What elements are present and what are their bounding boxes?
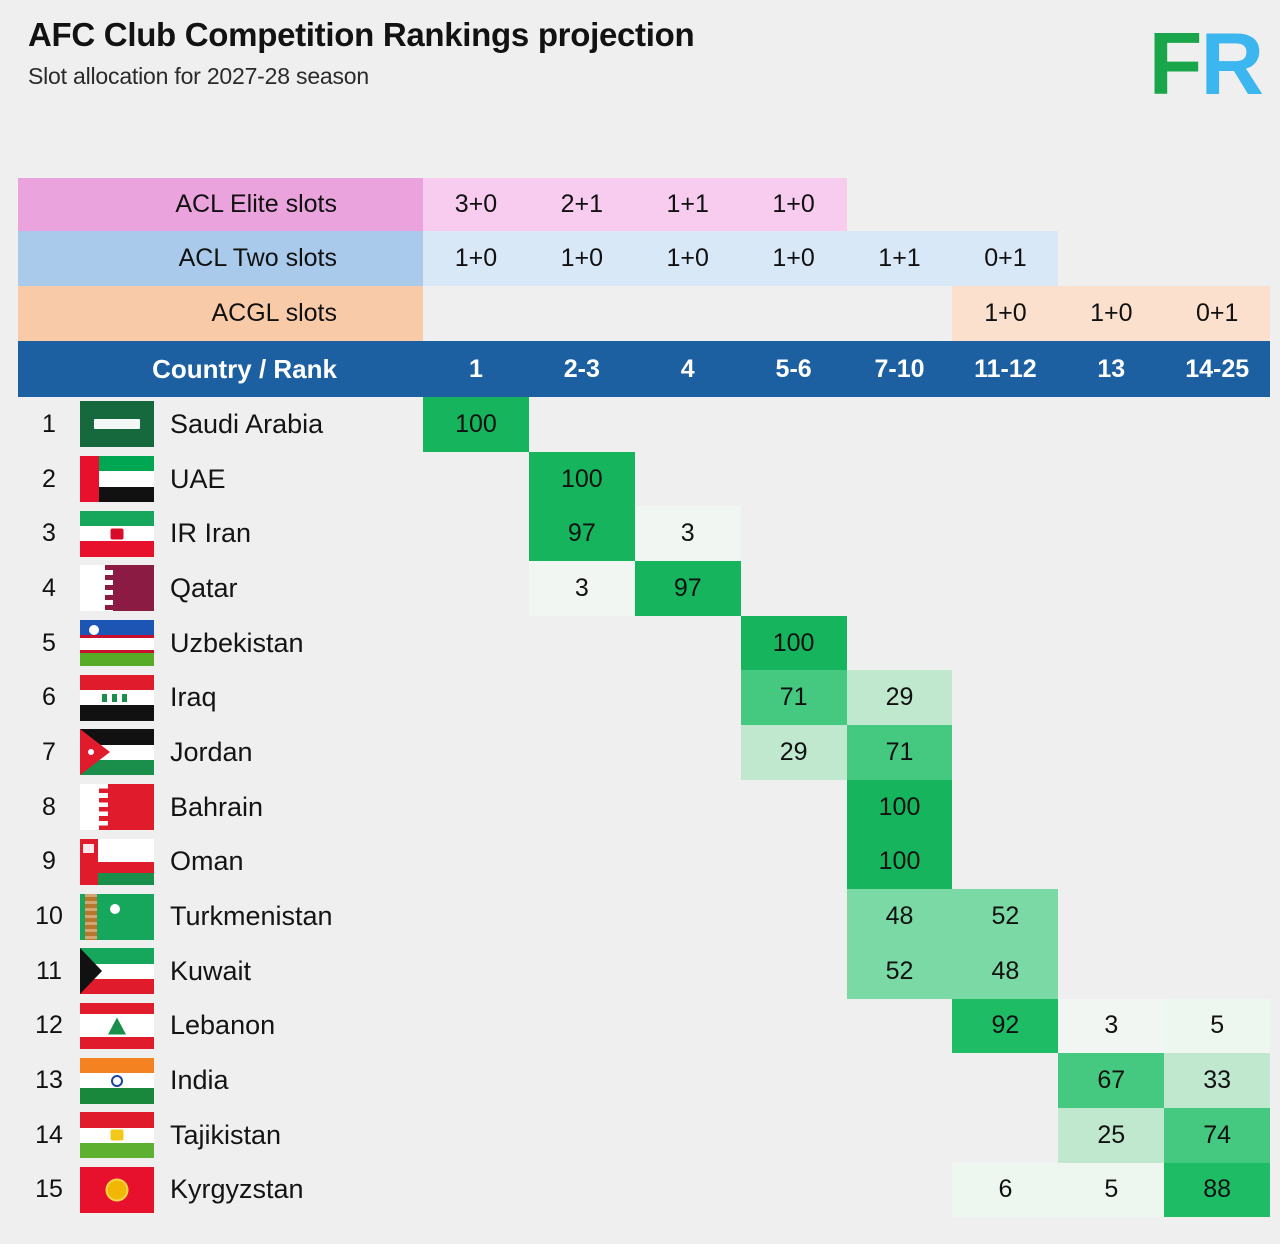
row-label: 12 Lebanon [18, 999, 423, 1054]
row-cells: 100 [423, 397, 1270, 452]
heatmap-cell: 29 [741, 725, 847, 780]
heatmap-cell: 88 [1164, 1163, 1270, 1218]
heatmap-cell [741, 999, 847, 1054]
row-cells: 100 [423, 616, 1270, 671]
heatmap-cell [1164, 397, 1270, 452]
heatmap-cell [423, 780, 529, 835]
country-name: Tajikistan [154, 1120, 281, 1151]
heatmap-cell [741, 1108, 847, 1163]
slot-row-cells: 1+01+00+1 [423, 286, 1270, 341]
heatmap-cell [635, 889, 741, 944]
row-rank: 1 [18, 410, 80, 439]
flag-icon-ir [80, 511, 154, 557]
row-label: 3 IR Iran [18, 506, 423, 561]
row-cells: 9235 [423, 999, 1270, 1054]
heatmap-cell [952, 780, 1058, 835]
slot-cell: 1+1 [635, 178, 741, 231]
column-header-7-10: 7-10 [847, 341, 953, 397]
fr-logo: FR [1149, 22, 1262, 106]
slot-row-acl-two-slots: ACL Two slots1+01+01+01+01+10+1 [18, 231, 1270, 286]
heatmap-cell [423, 835, 529, 890]
heatmap-cell [952, 616, 1058, 671]
heatmap-cell [952, 725, 1058, 780]
heatmap-cell [529, 1053, 635, 1108]
heatmap-cell: 92 [952, 999, 1058, 1054]
heatmap-cell [741, 452, 847, 507]
heatmap-cell: 6 [952, 1163, 1058, 1218]
slot-cell: 1+0 [635, 231, 741, 286]
slots-table: ACL Elite slots3+02+11+11+0ACL Two slots… [18, 178, 1270, 1217]
row-rank: 8 [18, 793, 80, 822]
heatmap-cell [952, 670, 1058, 725]
heatmap-cell: 100 [529, 452, 635, 507]
heatmap-cell [952, 1053, 1058, 1108]
slot-cell [529, 286, 635, 341]
row-rank: 3 [18, 519, 80, 548]
country-name: Oman [154, 846, 244, 877]
slot-cell [741, 286, 847, 341]
country-name: Uzbekistan [154, 628, 304, 659]
heatmap-cell [423, 561, 529, 616]
country-name: Saudi Arabia [154, 409, 323, 440]
row-cells: 6733 [423, 1053, 1270, 1108]
country-name: UAE [154, 464, 226, 495]
row-label: 9 Oman [18, 835, 423, 890]
heatmap-cell [529, 670, 635, 725]
row-rank: 6 [18, 683, 80, 712]
row-cells: 100 [423, 780, 1270, 835]
heatmap-cell: 100 [847, 835, 953, 890]
row-label: 6 Iraq [18, 670, 423, 725]
heatmap-cell [529, 780, 635, 835]
slot-row-acgl-slots: ACGL slots1+01+00+1 [18, 286, 1270, 341]
flag-icon-tj [80, 1112, 154, 1158]
row-cells: 2971 [423, 725, 1270, 780]
heatmap-cell [423, 1053, 529, 1108]
flag-icon-bh [80, 784, 154, 830]
country-name: India [154, 1065, 229, 1096]
heatmap-cell [741, 1053, 847, 1108]
heatmap-cell [847, 397, 953, 452]
heatmap-cell: 67 [1058, 1053, 1164, 1108]
row-rank: 9 [18, 847, 80, 876]
heatmap-cell [1164, 506, 1270, 561]
heatmap-cell [423, 1163, 529, 1218]
flag-icon-ae [80, 456, 154, 502]
heatmap-cell: 3 [1058, 999, 1164, 1054]
heatmap-cell: 100 [741, 616, 847, 671]
heatmap-cell [741, 944, 847, 999]
heatmap-cell [529, 725, 635, 780]
table-row: 8 Bahrain100 [18, 780, 1270, 835]
heatmap-cell: 48 [952, 944, 1058, 999]
heatmap-cell [635, 725, 741, 780]
heatmap-cell: 97 [529, 506, 635, 561]
row-cells: 397 [423, 561, 1270, 616]
column-header-1: 1 [423, 341, 529, 397]
row-rank: 15 [18, 1175, 80, 1204]
slot-cell [423, 286, 529, 341]
row-cells: 100 [423, 452, 1270, 507]
heatmap-cell [529, 999, 635, 1054]
heatmap-cell [1058, 670, 1164, 725]
heatmap-cell [741, 889, 847, 944]
heatmap-cell [847, 561, 953, 616]
table-row: 1 Saudi Arabia100 [18, 397, 1270, 452]
row-label: 15 Kyrgyzstan [18, 1163, 423, 1218]
row-rank: 4 [18, 574, 80, 603]
slot-cell: 1+0 [423, 231, 529, 286]
row-label: 5 Uzbekistan [18, 616, 423, 671]
heatmap-cell [1058, 506, 1164, 561]
heatmap-cell [635, 670, 741, 725]
table-row: 3 IR Iran973 [18, 506, 1270, 561]
heatmap-cell [423, 670, 529, 725]
heatmap-cell [423, 452, 529, 507]
slot-row-acl-elite-slots: ACL Elite slots3+02+11+11+0 [18, 178, 1270, 231]
flag-icon-qa [80, 565, 154, 611]
row-rank: 13 [18, 1066, 80, 1095]
country-name: Bahrain [154, 792, 263, 823]
heatmap-cell: 25 [1058, 1108, 1164, 1163]
row-label: 2 UAE [18, 452, 423, 507]
table-row: 4 Qatar397 [18, 561, 1270, 616]
heatmap-cell [952, 452, 1058, 507]
row-rank: 14 [18, 1121, 80, 1150]
row-cells: 2574 [423, 1108, 1270, 1163]
heatmap-cell [1164, 780, 1270, 835]
flag-icon-uz [80, 620, 154, 666]
heatmap-cell [741, 397, 847, 452]
heatmap-cell [847, 1108, 953, 1163]
slot-row-cells: 1+01+01+01+01+10+1 [423, 231, 1270, 286]
flag-icon-tm [80, 894, 154, 940]
heatmap-cell: 5 [1164, 999, 1270, 1054]
flag-icon-in [80, 1058, 154, 1104]
table-header-row: Country / Rank12-345-67-1011-121314-25 [18, 341, 1270, 397]
row-label: 1 Saudi Arabia [18, 397, 423, 452]
heatmap-cell: 52 [847, 944, 953, 999]
heatmap-cell [1058, 452, 1164, 507]
column-header-4: 4 [635, 341, 741, 397]
heatmap-cell [1164, 452, 1270, 507]
slot-cell [1164, 231, 1270, 286]
slot-cell: 1+0 [529, 231, 635, 286]
heatmap-cell [635, 1053, 741, 1108]
row-rank: 10 [18, 902, 80, 931]
flag-icon-lb [80, 1003, 154, 1049]
heatmap-cell: 71 [741, 670, 847, 725]
heatmap-cell [529, 835, 635, 890]
table-row: 11 Kuwait5248 [18, 944, 1270, 999]
row-rank: 12 [18, 1011, 80, 1040]
heatmap-cell [635, 999, 741, 1054]
slot-cell: 1+0 [1058, 286, 1164, 341]
heatmap-cell [847, 1053, 953, 1108]
heatmap-cell [847, 1163, 953, 1218]
heatmap-cell: 3 [529, 561, 635, 616]
row-rank: 11 [18, 957, 80, 986]
country-name: Iraq [154, 682, 217, 713]
heatmap-cell [1164, 670, 1270, 725]
heatmap-cell [1058, 725, 1164, 780]
table-row: 9 Oman100 [18, 835, 1270, 890]
heatmap-cell [1164, 561, 1270, 616]
slot-row-cells: 3+02+11+11+0 [423, 178, 1270, 231]
flag-icon-kg [80, 1167, 154, 1213]
country-name: Jordan [154, 737, 253, 768]
country-name: IR Iran [154, 518, 251, 549]
flag-icon-iq [80, 675, 154, 721]
heatmap-cell [741, 561, 847, 616]
heatmap-cell [423, 889, 529, 944]
country-rank-header: Country / Rank [18, 341, 423, 397]
heatmap-cell [529, 616, 635, 671]
heatmap-cell [1164, 616, 1270, 671]
slot-cell [847, 178, 953, 231]
heatmap-cell: 5 [1058, 1163, 1164, 1218]
heatmap-cell [423, 616, 529, 671]
table-row: 10 Turkmenistan4852 [18, 889, 1270, 944]
page-title: AFC Club Competition Rankings projection [28, 16, 694, 54]
heatmap-cell [952, 835, 1058, 890]
heatmap-cell [741, 506, 847, 561]
slot-cell: 2+1 [529, 178, 635, 231]
infographic-root: AFC Club Competition Rankings projection… [0, 0, 1280, 1244]
heatmap-cell [1058, 835, 1164, 890]
heatmap-cell: 3 [635, 506, 741, 561]
heatmap-cell [952, 561, 1058, 616]
heatmap-cell [1058, 944, 1164, 999]
row-cells: 100 [423, 835, 1270, 890]
row-label: 4 Qatar [18, 561, 423, 616]
slot-cell: 1+0 [741, 178, 847, 231]
heatmap-cell [635, 835, 741, 890]
heatmap-cell [741, 780, 847, 835]
table-row: 5 Uzbekistan100 [18, 616, 1270, 671]
heatmap-cell [423, 725, 529, 780]
row-cells: 4852 [423, 889, 1270, 944]
heatmap-cell [635, 1163, 741, 1218]
heatmap-cell [529, 1163, 635, 1218]
table-row: 7 Jordan2971 [18, 725, 1270, 780]
row-cells: 6588 [423, 1163, 1270, 1218]
heatmap-cell [635, 616, 741, 671]
heatmap-cell [423, 944, 529, 999]
heatmap-cell [1164, 944, 1270, 999]
slot-cell: 0+1 [1164, 286, 1270, 341]
slot-cell [1058, 231, 1164, 286]
table-row: 15 Kyrgyzstan6588 [18, 1163, 1270, 1218]
column-header-2-3: 2-3 [529, 341, 635, 397]
table-row: 2 UAE100 [18, 452, 1270, 507]
heatmap-cell: 74 [1164, 1108, 1270, 1163]
heatmap-cell: 100 [423, 397, 529, 452]
table-row: 14 Tajikistan2574 [18, 1108, 1270, 1163]
logo-letter-f: F [1149, 14, 1201, 113]
heatmap-cell [635, 944, 741, 999]
table-row: 6 Iraq7129 [18, 670, 1270, 725]
heatmap-cell [952, 1108, 1058, 1163]
row-cells: 973 [423, 506, 1270, 561]
column-header-14-25: 14-25 [1164, 341, 1270, 397]
country-name: Qatar [154, 573, 238, 604]
slot-row-label: ACL Two slots [18, 231, 423, 286]
heatmap-cell [1164, 725, 1270, 780]
heatmap-cell [423, 999, 529, 1054]
heatmap-cell [847, 452, 953, 507]
country-name: Turkmenistan [154, 901, 333, 932]
column-header-13: 13 [1058, 341, 1164, 397]
row-rank: 7 [18, 738, 80, 767]
heatmap-cell [952, 397, 1058, 452]
heatmap-cell [635, 397, 741, 452]
heatmap-cell [1164, 889, 1270, 944]
title-block: AFC Club Competition Rankings projection… [28, 16, 694, 90]
heatmap-cell [529, 1108, 635, 1163]
heatmap-cell [1058, 780, 1164, 835]
slot-cell: 3+0 [423, 178, 529, 231]
country-name: Kyrgyzstan [154, 1174, 304, 1205]
row-cells: 5248 [423, 944, 1270, 999]
page-subtitle: Slot allocation for 2027-28 season [28, 63, 694, 90]
slot-cell [635, 286, 741, 341]
country-name: Kuwait [154, 956, 251, 987]
heatmap-cell [1058, 561, 1164, 616]
slot-cell: 1+1 [847, 231, 953, 286]
heatmap-cell: 71 [847, 725, 953, 780]
heatmap-cell [529, 889, 635, 944]
column-header-11-12: 11-12 [952, 341, 1058, 397]
heatmap-cell [847, 506, 953, 561]
row-label: 11 Kuwait [18, 944, 423, 999]
slot-cell [1164, 178, 1270, 231]
heatmap-cell [635, 452, 741, 507]
heatmap-cell [635, 1108, 741, 1163]
slot-cell [847, 286, 953, 341]
slot-cell [1058, 178, 1164, 231]
slot-cell: 1+0 [741, 231, 847, 286]
heatmap-cell: 97 [635, 561, 741, 616]
heatmap-cell [1164, 835, 1270, 890]
heatmap-cell [1058, 889, 1164, 944]
heatmap-cell [1058, 616, 1164, 671]
heatmap-cell [847, 616, 953, 671]
table-row: 13 India6733 [18, 1053, 1270, 1108]
slot-row-label: ACGL slots [18, 286, 423, 341]
heatmap-cell [741, 1163, 847, 1218]
heatmap-cell: 48 [847, 889, 953, 944]
column-header-5-6: 5-6 [741, 341, 847, 397]
row-label: 13 India [18, 1053, 423, 1108]
country-name: Lebanon [154, 1010, 275, 1041]
flag-icon-om [80, 839, 154, 885]
flag-icon-kw [80, 948, 154, 994]
row-label: 14 Tajikistan [18, 1108, 423, 1163]
slot-cell [952, 178, 1058, 231]
column-headers: 12-345-67-1011-121314-25 [423, 341, 1270, 397]
row-label: 10 Turkmenistan [18, 889, 423, 944]
table-row: 12 Lebanon9235 [18, 999, 1270, 1054]
heatmap-cell [847, 999, 953, 1054]
row-label: 8 Bahrain [18, 780, 423, 835]
heatmap-cell [1058, 397, 1164, 452]
logo-letter-r: R [1200, 14, 1262, 113]
heatmap-cell [741, 835, 847, 890]
flag-icon-jo [80, 729, 154, 775]
heatmap-cell [635, 780, 741, 835]
heatmap-cell: 100 [847, 780, 953, 835]
slot-row-label: ACL Elite slots [18, 178, 423, 231]
heatmap-cell [529, 944, 635, 999]
flag-icon-sa [80, 401, 154, 447]
heatmap-cell [952, 506, 1058, 561]
heatmap-cell [423, 506, 529, 561]
row-rank: 5 [18, 629, 80, 658]
row-rank: 2 [18, 465, 80, 494]
heatmap-cell [529, 397, 635, 452]
heatmap-cell [423, 1108, 529, 1163]
heatmap-cell: 52 [952, 889, 1058, 944]
row-cells: 7129 [423, 670, 1270, 725]
heatmap-cell: 29 [847, 670, 953, 725]
heatmap-cell: 33 [1164, 1053, 1270, 1108]
row-label: 7 Jordan [18, 725, 423, 780]
slot-cell: 0+1 [952, 231, 1058, 286]
slot-cell: 1+0 [952, 286, 1058, 341]
